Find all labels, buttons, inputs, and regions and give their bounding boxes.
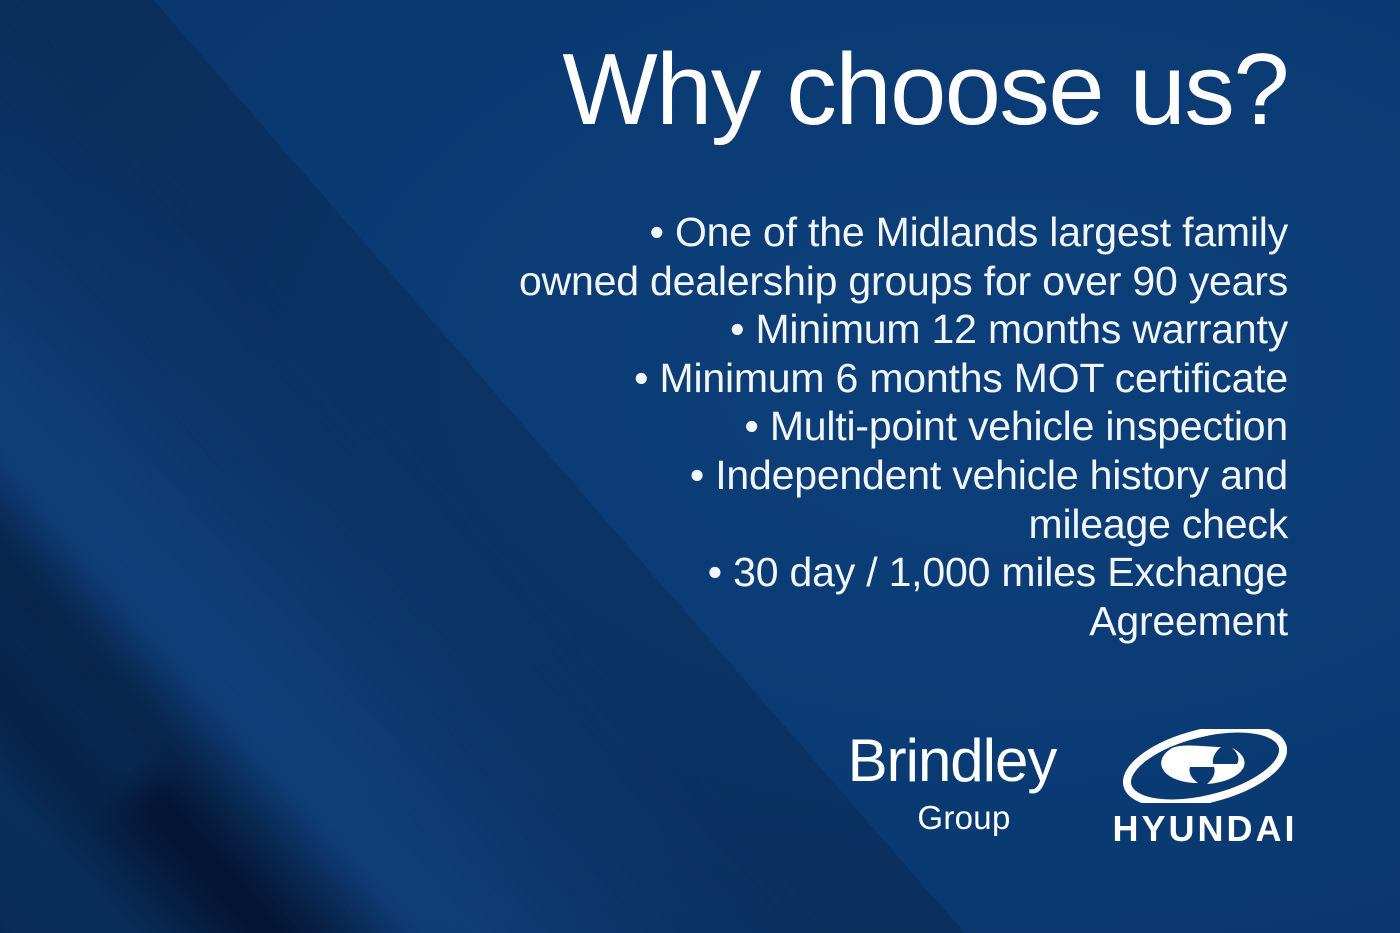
promo-slide: Why choose us? • One of the Midlands lar… [0, 0, 1400, 933]
list-item: • Minimum 12 months warranty [458, 305, 1288, 354]
brindley-wordmark: Brindley [812, 731, 1092, 791]
slide-content: Why choose us? • One of the Midlands lar… [0, 0, 1400, 933]
brindley-group-logo: Brindley Group [812, 731, 1092, 834]
list-item: Agreement [458, 597, 1288, 646]
logo-row: Brindley Group HYUNDAI [800, 725, 1310, 865]
brindley-group-subtitle: Group [812, 801, 1092, 834]
list-item: • 30 day / 1,000 miles Exchange [458, 548, 1288, 597]
list-item: • Multi-point vehicle inspection [458, 402, 1288, 451]
hyundai-logo: HYUNDAI [1105, 729, 1305, 847]
page-title: Why choose us? [388, 40, 1288, 141]
list-item: mileage check [458, 500, 1288, 549]
hyundai-emblem-icon [1114, 729, 1296, 803]
hyundai-wordmark: HYUNDAI [1105, 811, 1305, 847]
list-item: • One of the Midlands largest family [458, 208, 1288, 257]
list-item: owned dealership groups for over 90 year… [458, 257, 1288, 306]
benefits-list: • One of the Midlands largest family own… [458, 208, 1288, 645]
list-item: • Independent vehicle history and [458, 451, 1288, 500]
list-item: • Minimum 6 months MOT certificate [458, 354, 1288, 403]
